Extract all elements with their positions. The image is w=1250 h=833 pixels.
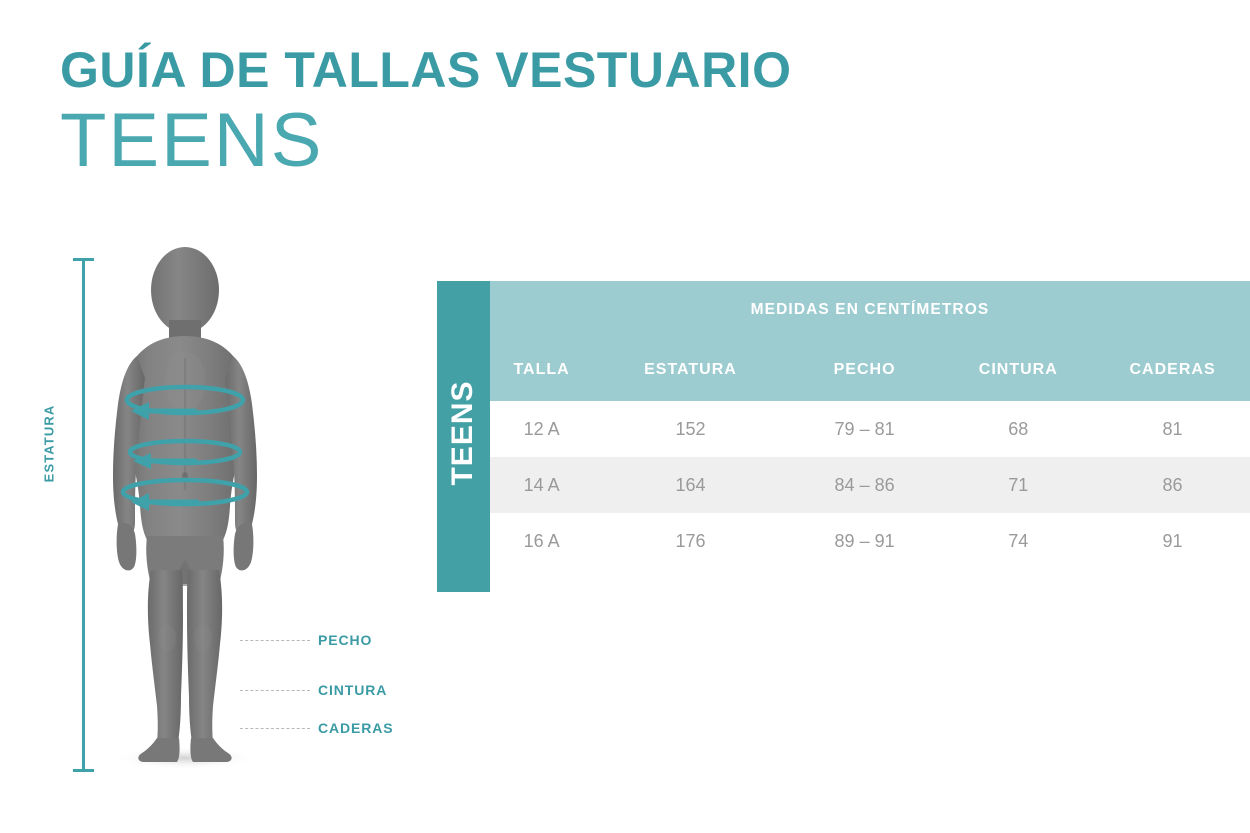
callout-pecho: PECHO xyxy=(240,630,372,650)
page-subtitle: TEENS xyxy=(60,103,960,179)
table-band-title-row: MEDIDAS EN CENTÍMETROS xyxy=(490,281,1250,339)
page-title: GUÍA DE TALLAS VESTUARIO xyxy=(60,44,960,97)
table-cell: 84 – 86 xyxy=(788,457,942,513)
column-header-cintura: CINTURA xyxy=(941,339,1095,401)
table-cell: 16 A xyxy=(490,513,593,569)
table-group-sidebar: TEENS xyxy=(437,281,490,592)
table-cell: 89 – 91 xyxy=(788,513,942,569)
table-cell: 81 xyxy=(1095,401,1250,457)
mannequin-figure-area: ESTATURA xyxy=(45,240,425,770)
estatura-label: ESTATURA xyxy=(42,384,57,504)
table-cell: 71 xyxy=(941,457,1095,513)
leader-line-caderas xyxy=(240,728,310,729)
title-block: GUÍA DE TALLAS VESTUARIO TEENS xyxy=(60,44,960,179)
table-cell: 79 – 81 xyxy=(788,401,942,457)
table-head: MEDIDAS EN CENTÍMETROS TALLAESTATURAPECH… xyxy=(490,281,1250,401)
table-cell: 74 xyxy=(941,513,1095,569)
band-title: MEDIDAS EN CENTÍMETROS xyxy=(490,281,1250,339)
column-header-caderas: CADERAS xyxy=(1095,339,1250,401)
table-body: 12 A15279 – 81688114 A16484 – 86718616 A… xyxy=(490,401,1250,569)
table-row: 14 A16484 – 867186 xyxy=(490,457,1250,513)
leader-line-pecho xyxy=(240,640,310,641)
column-header-estatura: ESTATURA xyxy=(593,339,788,401)
table-cell: 14 A xyxy=(490,457,593,513)
callout-cintura: CINTURA xyxy=(240,680,387,700)
table-column-header-row: TALLAESTATURAPECHOCINTURACADERAS xyxy=(490,339,1250,401)
table-cell: 12 A xyxy=(490,401,593,457)
column-header-talla: TALLA xyxy=(490,339,593,401)
table-group-label: TEENS xyxy=(446,338,480,528)
table-cell: 176 xyxy=(593,513,788,569)
leader-line-cintura xyxy=(240,690,310,691)
callout-label-pecho: PECHO xyxy=(318,632,372,648)
callout-caderas: CADERAS xyxy=(240,718,394,738)
table-row: 12 A15279 – 816881 xyxy=(490,401,1250,457)
measurements-table: MEDIDAS EN CENTÍMETROS TALLAESTATURAPECH… xyxy=(490,281,1250,569)
callout-label-cintura: CINTURA xyxy=(318,682,387,698)
table-cell: 164 xyxy=(593,457,788,513)
callout-label-caderas: CADERAS xyxy=(318,720,394,736)
table-cell: 86 xyxy=(1095,457,1250,513)
table-row: 16 A17689 – 917491 xyxy=(490,513,1250,569)
table-cell: 91 xyxy=(1095,513,1250,569)
column-header-pecho: PECHO xyxy=(788,339,942,401)
table-cell: 68 xyxy=(941,401,1095,457)
table-cell: 152 xyxy=(593,401,788,457)
